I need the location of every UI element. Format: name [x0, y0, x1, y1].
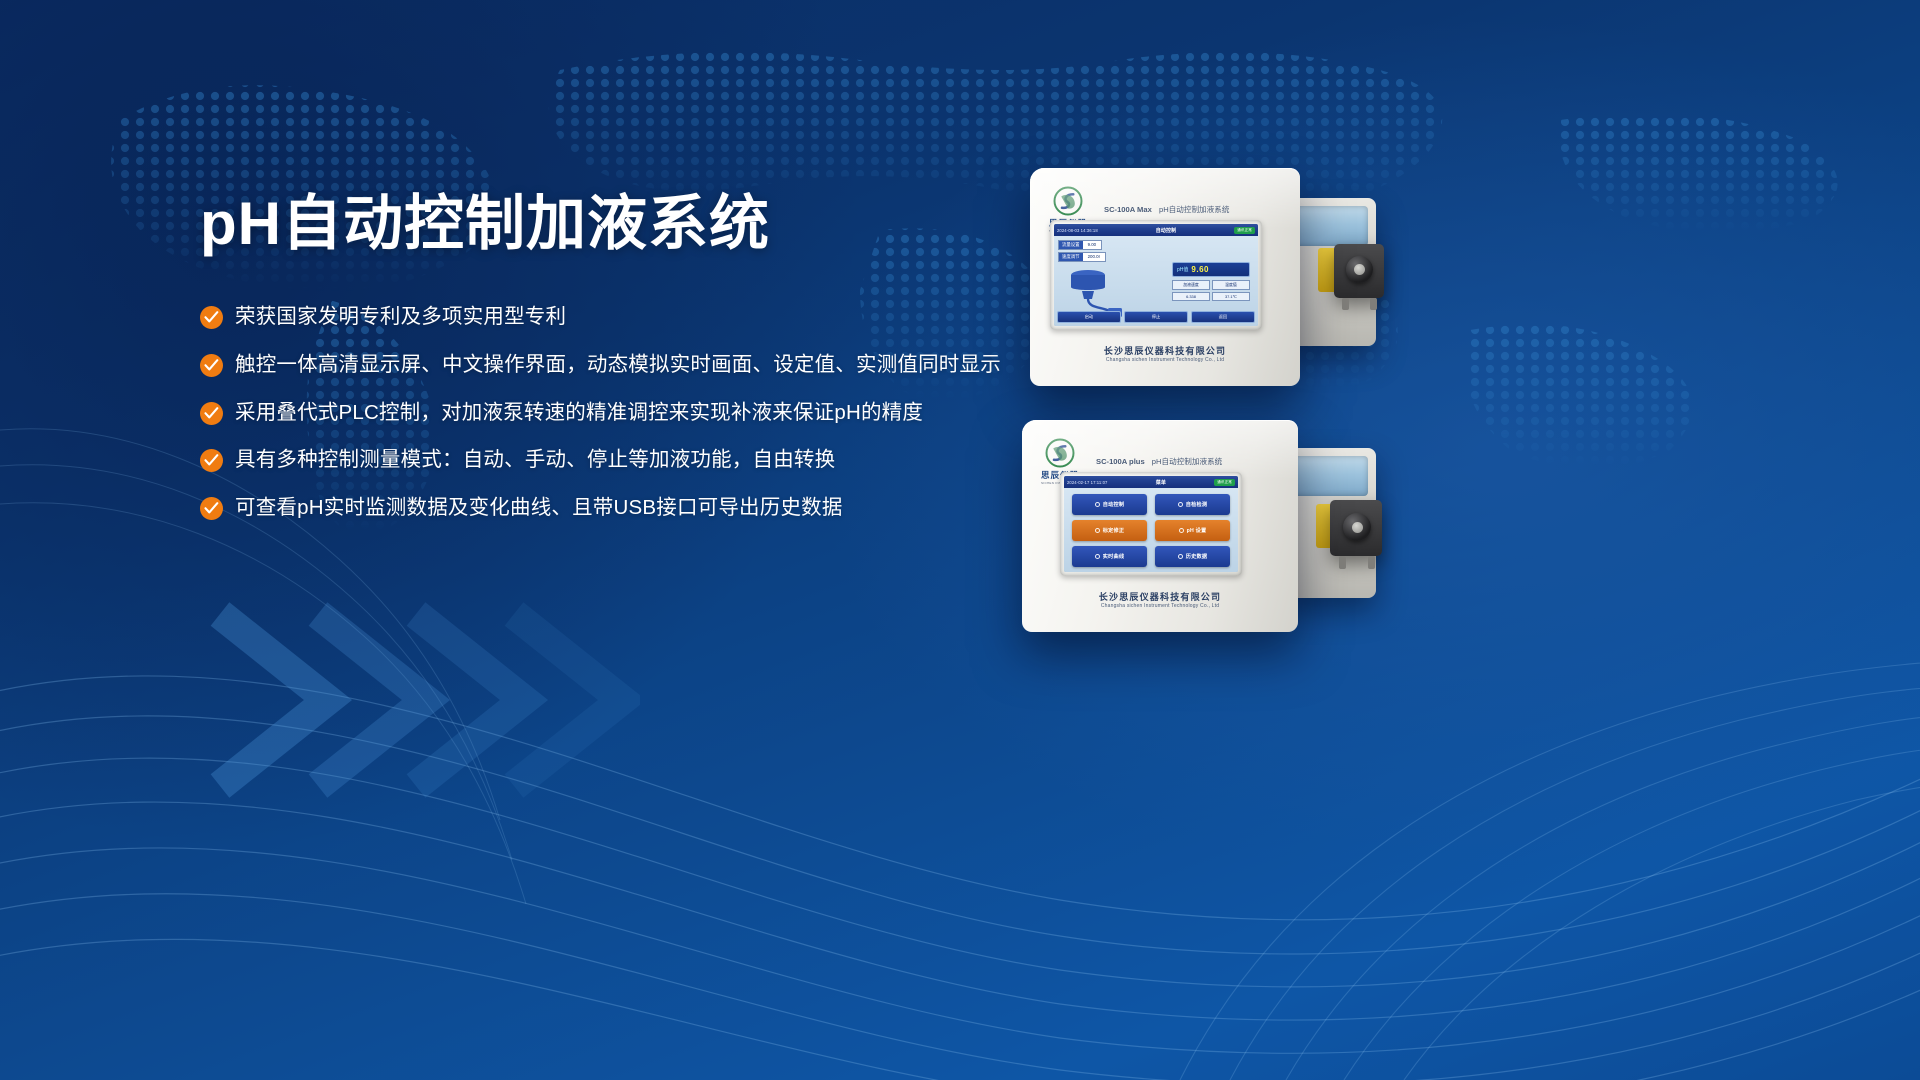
menu-item-history-data[interactable]: 历史数据 [1155, 546, 1230, 567]
tune-icon [1095, 528, 1100, 533]
ph-value: 9.60 [1191, 265, 1209, 274]
measurement-grid: 加液速度 温度值 6.338 37.1℃ [1172, 280, 1250, 301]
model-label-bottom: SC-100A plus pH自动控制加液系统 [1096, 456, 1222, 467]
list-item: 触控一体高清显示屏、中文操作界面，动态模拟实时画面、设定值、实测值同时显示 [200, 351, 1120, 379]
list-item: 荣获国家发明专利及多项实用型专利 [200, 303, 1120, 331]
ph-label: pH值 [1177, 266, 1188, 273]
grid-header-temp: 温度值 [1212, 280, 1250, 290]
screen-titlebar-top: 2024-08-03 14:36:18 自动控制 通讯正常 [1054, 224, 1258, 236]
pump-foot [1339, 556, 1346, 569]
pump-foot [1370, 298, 1377, 310]
stop-button[interactable]: 停止 [1124, 311, 1188, 323]
check-icon [200, 306, 223, 329]
list-item: 采用叠代式PLC控制，对加液泵转速的精准调控来实现补液来保证pH的精度 [200, 399, 1120, 427]
screen-content-bottom: 自动控制 自检检测 标定修正 pH 设置 实时曲线 历史数据 [1064, 488, 1238, 572]
gear-icon [1095, 502, 1100, 507]
check-icon [200, 402, 223, 425]
check-icon [200, 497, 223, 520]
screen-title: 自动控制 [1156, 227, 1176, 234]
field-value: 200.0r [1083, 253, 1105, 261]
company-en: Changsha sichen Instrument Technology Co… [1022, 603, 1298, 609]
menu-item-self-check[interactable]: 自检检测 [1155, 494, 1230, 515]
screen-timestamp: 2024-08-03 14:36:18 [1057, 228, 1098, 233]
list-item: 可查看pH实时监测数据及变化曲线、且带USB接口可导出历史数据 [200, 494, 1120, 522]
ph-readout: pH值 9.60 [1172, 262, 1250, 277]
feature-text: 荣获国家发明专利及多项实用型专利 [235, 303, 566, 331]
screen-title: 菜单 [1156, 479, 1166, 486]
pump-cap [1352, 522, 1363, 533]
menu-label: 自检检测 [1186, 501, 1208, 508]
check-circle-icon [1178, 502, 1183, 507]
touchscreen-bottom[interactable]: 2024-02-17 17:11:07 菜单 通讯正常 自动控制 自检检测 标定… [1064, 476, 1238, 572]
grid-header-flow: 加液速度 [1172, 280, 1210, 290]
status-badge: 通讯正常 [1214, 479, 1235, 486]
touchscreen-bezel-top: 2024-08-03 14:36:18 自动控制 通讯正常 流量设置 9.00 … [1050, 220, 1262, 330]
back-button[interactable]: 返回 [1191, 311, 1255, 323]
device-footer-bottom: 长沙思辰仪器科技有限公司 Changsha sichen Instrument … [1022, 590, 1298, 609]
field-speed-setting[interactable]: 速度调节 200.0r [1058, 252, 1106, 262]
field-value: 9.00 [1083, 241, 1102, 249]
check-icon [200, 354, 223, 377]
feature-text: 采用叠代式PLC控制，对加液泵转速的精准调控来实现补液来保证pH的精度 [235, 399, 923, 427]
model-code: SC-100A Max [1104, 205, 1152, 214]
peristaltic-pump-top [1312, 240, 1398, 320]
company-cn: 长沙思辰仪器科技有限公司 [1030, 344, 1300, 357]
page-title: pH自动控制加液系统 [200, 190, 1120, 257]
content-block: pH自动控制加液系统 荣获国家发明专利及多项实用型专利 触控一体高清显示屏、中文… [200, 190, 1120, 542]
side-window-bottom [1294, 456, 1368, 496]
company-en: Changsha sichen Instrument Technology Co… [1030, 357, 1300, 363]
field-key: 流量设置 [1059, 241, 1083, 249]
slider-icon [1179, 528, 1184, 533]
screen-button-row: 启动 停止 返回 [1057, 311, 1255, 323]
device-body-top: 思辰仪器 SICHEN INSTRUMENT SC-100A Max pH自动控… [1030, 168, 1300, 386]
menu-item-auto-control[interactable]: 自动控制 [1072, 494, 1147, 515]
menu-label: 实时曲线 [1103, 553, 1125, 560]
menu-item-calibration[interactable]: 标定修正 [1072, 520, 1147, 541]
list-item: 具有多种控制测量模式：自动、手动、停止等加液功能，自由转换 [200, 446, 1120, 474]
menu-grid: 自动控制 自检检测 标定修正 pH 设置 实时曲线 历史数据 [1072, 494, 1230, 567]
device-footer-top: 长沙思辰仪器科技有限公司 Changsha sichen Instrument … [1030, 344, 1300, 363]
chevron-arrows-decoration [210, 600, 640, 800]
menu-label: pH 设置 [1187, 527, 1207, 534]
check-icon [200, 449, 223, 472]
device-body-bottom: 思辰仪器 SICHEN INSTRUMENT SC-100A plus pH自动… [1022, 420, 1298, 632]
touchscreen-bezel-bottom: 2024-02-17 17:11:07 菜单 通讯正常 自动控制 自检检测 标定… [1060, 472, 1242, 576]
database-icon [1178, 554, 1183, 559]
field-key: 速度调节 [1059, 253, 1083, 261]
device-photo-top: 思辰仪器 SICHEN INSTRUMENT SC-100A Max pH自动控… [1030, 168, 1390, 408]
menu-item-realtime-curve[interactable]: 实时曲线 [1072, 546, 1147, 567]
touchscreen-top[interactable]: 2024-08-03 14:36:18 自动控制 通讯正常 流量设置 9.00 … [1054, 224, 1258, 326]
model-desc: pH自动控制加液系统 [1152, 457, 1222, 466]
feature-text: 具有多种控制测量模式：自动、手动、停止等加液功能，自由转换 [235, 446, 835, 474]
device-photo-bottom: 思辰仪器 SICHEN INSTRUMENT SC-100A plus pH自动… [1022, 420, 1392, 650]
pump-foot [1368, 556, 1375, 569]
menu-item-ph-settings[interactable]: pH 设置 [1155, 520, 1230, 541]
peristaltic-pump-bottom [1312, 496, 1398, 578]
menu-label: 历史数据 [1186, 553, 1208, 560]
grid-value-flow: 6.338 [1172, 292, 1210, 301]
model-label-top: SC-100A Max pH自动控制加液系统 [1104, 204, 1229, 215]
pump-foot [1342, 298, 1349, 310]
field-flow-setting[interactable]: 流量设置 9.00 [1058, 240, 1102, 250]
model-desc: pH自动控制加液系统 [1159, 205, 1229, 214]
sichen-logo-icon [1045, 438, 1075, 468]
start-button[interactable]: 启动 [1057, 311, 1121, 323]
grid-value-temp: 37.1℃ [1212, 292, 1250, 301]
sichen-logo-icon [1053, 186, 1083, 216]
menu-label: 标定修正 [1103, 527, 1125, 534]
banner-stage: pH自动控制加液系统 荣获国家发明专利及多项实用型专利 触控一体高清显示屏、中文… [0, 0, 1920, 1080]
chart-icon [1095, 554, 1100, 559]
model-code: SC-100A plus [1096, 457, 1145, 466]
screen-titlebar-bottom: 2024-02-17 17:11:07 菜单 通讯正常 [1064, 476, 1238, 488]
feature-text: 触控一体高清显示屏、中文操作界面，动态模拟实时画面、设定值、实测值同时显示 [235, 351, 1001, 379]
feature-text: 可查看pH实时监测数据及变化曲线、且带USB接口可导出历史数据 [235, 494, 843, 522]
feature-list: 荣获国家发明专利及多项实用型专利 触控一体高清显示屏、中文操作界面，动态模拟实时… [200, 303, 1120, 521]
screen-content-top: 流量设置 9.00 速度调节 200.0r [1054, 236, 1258, 326]
company-cn: 长沙思辰仪器科技有限公司 [1022, 590, 1298, 603]
status-badge: 通讯正常 [1234, 227, 1255, 234]
pump-cap [1354, 264, 1365, 275]
menu-label: 自动控制 [1103, 501, 1125, 508]
screen-timestamp: 2024-02-17 17:11:07 [1067, 480, 1107, 485]
